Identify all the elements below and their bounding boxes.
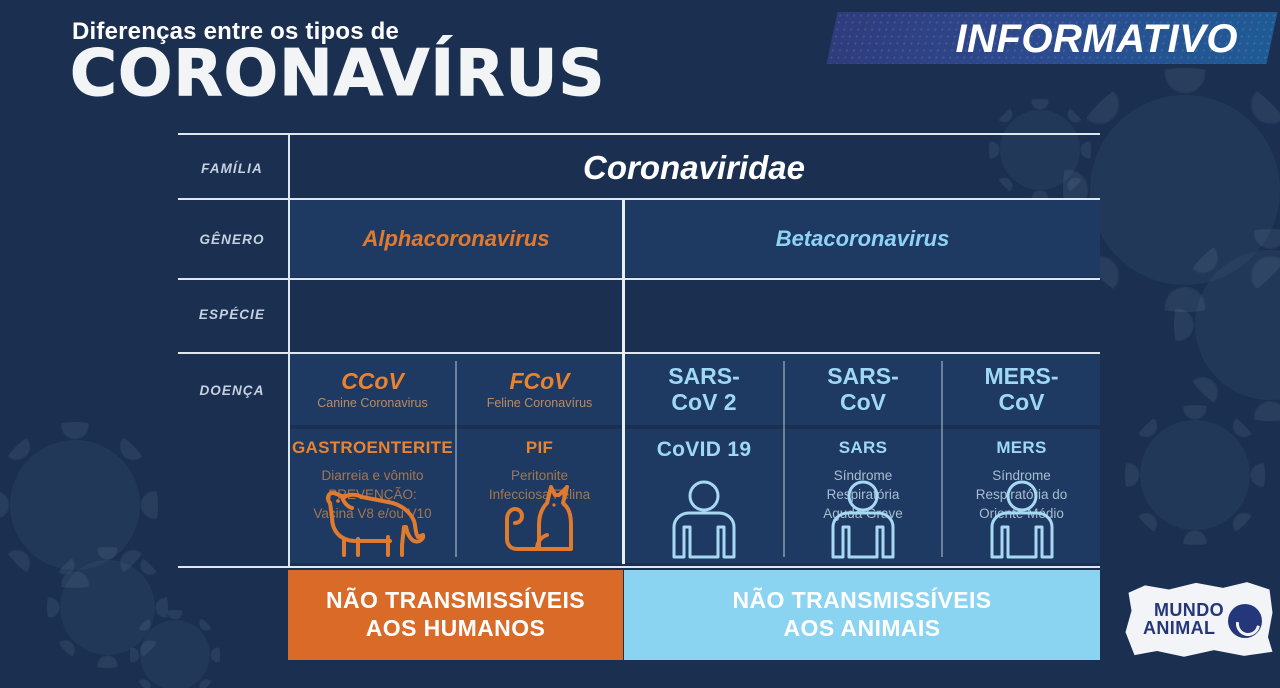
- disease-gastroenterite-name: GASTROENTERITE: [292, 438, 453, 458]
- species-mers-cov-name: MERS-CoV: [984, 364, 1058, 416]
- page-title: CORONAVÍRUS: [70, 42, 606, 106]
- person-icon: [668, 479, 740, 561]
- person-icon: [986, 479, 1058, 561]
- cat-icon: [497, 479, 583, 561]
- row-label-doenca: DOENÇA: [178, 383, 286, 398]
- species-fcov: FCoV Feline Coronavírus: [457, 354, 622, 425]
- banner-nao-transmissiveis-animais: NÃO TRANSMISSÍVEISAOS ANIMAIS: [624, 570, 1100, 660]
- table-rule-2: [178, 278, 1100, 280]
- virus-silhouette-icon: [10, 440, 140, 570]
- species-ccov-sub: Canine Coronavirus: [317, 396, 427, 410]
- disease-mers-name: MERS: [996, 438, 1046, 458]
- comparison-table: FAMÍLIA GÊNERO ESPÉCIE DOENÇA Coronaviri…: [178, 133, 1100, 568]
- genus-betacoronavirus: Betacoronavirus: [625, 200, 1100, 277]
- banner-nao-transmissiveis-humanos: NÃO TRANSMISSÍVEISAOS HUMANOS: [288, 570, 623, 660]
- virus-silhouette-icon: [60, 560, 155, 655]
- informativo-badge-label: INFORMATIVO: [842, 18, 1272, 60]
- species-ccov-name: CCoV: [341, 369, 404, 395]
- dog-icon: [318, 483, 428, 561]
- species-sars-cov-2: SARS-CoV 2: [625, 354, 783, 425]
- species-fcov-name: FCoV: [509, 369, 569, 395]
- species-sars-cov-name: SARS-CoV: [827, 364, 899, 416]
- virus-silhouette-icon: [140, 620, 210, 688]
- virus-silhouette-icon: [1140, 420, 1250, 530]
- species-sars-cov: SARS-CoV: [785, 354, 941, 425]
- icon-slot-cat: [457, 465, 622, 561]
- species-mers-cov: MERS-CoV: [943, 354, 1100, 425]
- row-label-especie: ESPÉCIE: [178, 307, 286, 322]
- family-value: Coronaviridae: [288, 139, 1100, 197]
- species-fcov-sub: Feline Coronavírus: [487, 396, 593, 410]
- row-label-familia: FAMÍLIA: [178, 161, 286, 176]
- disease-covid-19-name: CoVID 19: [657, 438, 752, 462]
- disease-sars-name: SARS: [839, 438, 887, 458]
- mundo-animal-logo: MUNDO ANIMAL: [1124, 578, 1274, 660]
- icon-slot-person-covid: [625, 465, 783, 561]
- disease-pif-name: PIF: [526, 438, 553, 458]
- genus-alphacoronavirus: Alphacoronavirus: [290, 200, 622, 277]
- table-rule-bottom: [178, 566, 1100, 568]
- virus-silhouette-icon: [1090, 95, 1280, 285]
- person-icon: [827, 479, 899, 561]
- row-label-genero: GÊNERO: [178, 232, 286, 247]
- icon-slot-person-sars: [785, 465, 941, 561]
- species-ccov: CCoV Canine Coronavirus: [290, 354, 455, 425]
- icon-slot-dog: [290, 465, 455, 561]
- table-rule-top: [178, 133, 1100, 135]
- species-sars-cov-2-name: SARS-CoV 2: [668, 364, 740, 416]
- virus-silhouette-icon: [1195, 250, 1280, 400]
- logo-swirl-icon: [1228, 604, 1262, 638]
- icon-slot-person-mers: [943, 465, 1100, 561]
